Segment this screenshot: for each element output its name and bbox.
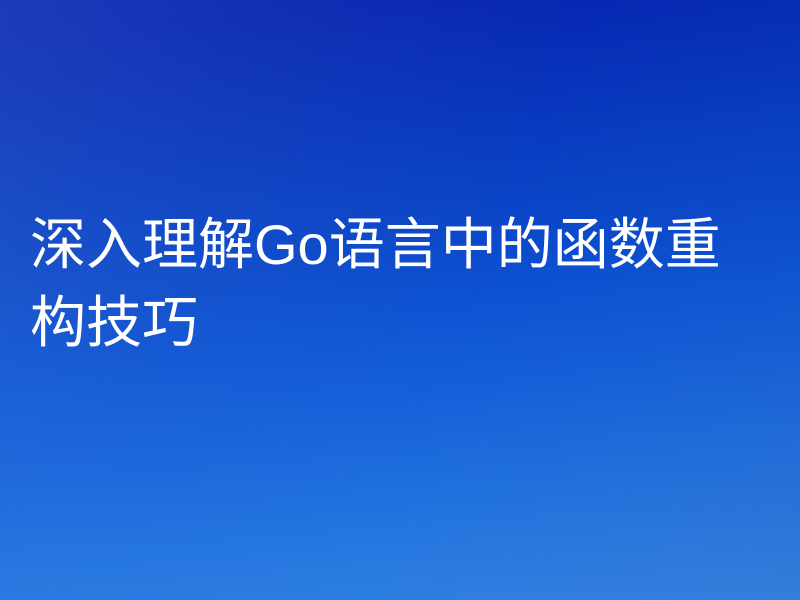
page-title: 深入理解Go语言中的函数重构技巧 [30,206,776,362]
title-block: 深入理解Go语言中的函数重构技巧 [30,206,776,362]
banner-cover: 深入理解Go语言中的函数重构技巧 [0,0,800,600]
